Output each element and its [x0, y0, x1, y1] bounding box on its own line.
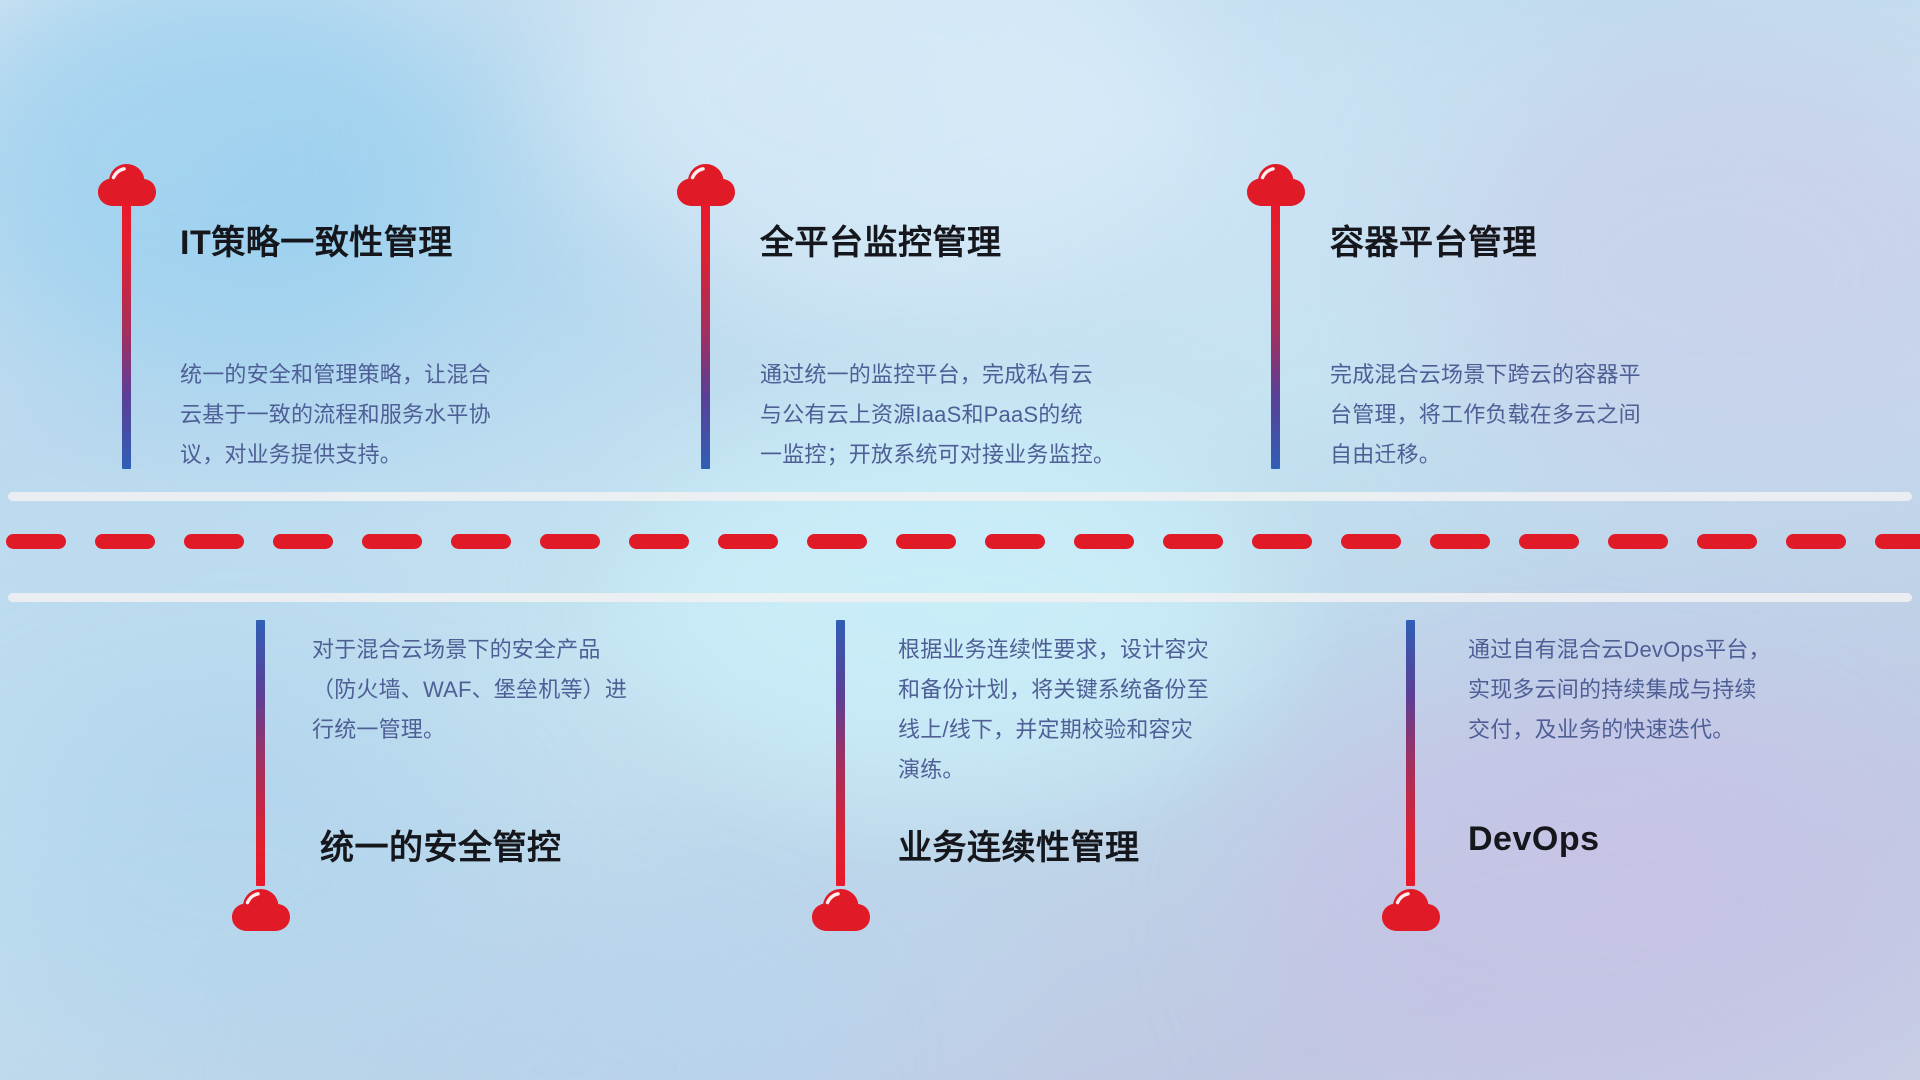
divider-dash — [1786, 534, 1846, 549]
divider-dash — [1875, 534, 1920, 549]
divider-dash — [184, 534, 244, 549]
divider-dash — [629, 534, 689, 549]
divider-dash — [540, 534, 600, 549]
divider-dash — [807, 534, 867, 549]
divider-dash — [1608, 534, 1668, 549]
timeline-stem — [701, 203, 710, 469]
divider-dash — [1074, 534, 1134, 549]
top-item-body: 完成混合云场景下跨云的容器平 台管理，将工作负载在多云之间 自由迁移。 — [1330, 355, 1780, 475]
divider-dash — [1697, 534, 1757, 549]
divider-rail-top — [8, 492, 1912, 501]
divider-dashed-line — [0, 533, 1920, 549]
timeline-stem — [836, 620, 845, 886]
divider-dash — [451, 534, 511, 549]
divider-dash — [985, 534, 1045, 549]
divider-dash — [95, 534, 155, 549]
bottom-item-body: 根据业务连续性要求，设计容灾 和备份计划，将关键系统备份至 线上/线下，并定期校… — [898, 630, 1348, 790]
background-glow — [0, 0, 460, 360]
top-item-heading: 容器平台管理 — [1330, 215, 1537, 264]
divider-dash — [6, 534, 66, 549]
bottom-item-heading: 业务连续性管理 — [898, 820, 1140, 869]
bottom-item-body: 通过自有混合云DevOps平台， 实现多云间的持续集成与持续 交付，及业务的快速… — [1468, 630, 1918, 750]
background-glow — [300, 940, 820, 1080]
background-glow — [0, 700, 480, 1060]
cloud-icon — [1245, 160, 1307, 207]
timeline-stem — [1406, 620, 1415, 886]
cloud-icon — [810, 885, 872, 932]
cloud-icon — [96, 160, 158, 207]
top-item-heading: IT策略一致性管理 — [180, 215, 453, 264]
bottom-item-heading: 统一的安全管控 — [320, 820, 562, 869]
cloud-icon — [230, 885, 292, 932]
background-glow — [1260, 720, 1880, 1080]
bottom-item-heading: DevOps — [1468, 820, 1600, 859]
bottom-item-body: 对于混合云场景下的安全产品 （防火墙、WAF、堡垒机等）进 行统一管理。 — [312, 630, 752, 750]
timeline-stem — [256, 620, 265, 886]
divider-dash — [273, 534, 333, 549]
divider-dash — [896, 534, 956, 549]
divider-dash — [1252, 534, 1312, 549]
divider-dash — [1430, 534, 1490, 549]
infographic-canvas: IT策略一致性管理 统一的安全和管理策略，让混合 云基于一致的流程和服务水平协 … — [0, 0, 1920, 1080]
timeline-stem — [122, 203, 131, 469]
top-item-body: 统一的安全和管理策略，让混合 云基于一致的流程和服务水平协 议，对业务提供支持。 — [180, 355, 610, 475]
cloud-icon — [675, 160, 737, 207]
cloud-icon — [1380, 885, 1442, 932]
top-item-body: 通过统一的监控平台，完成私有云 与公有云上资源IaaS和PaaS的统 一监控；开… — [760, 355, 1230, 475]
divider-dash — [1519, 534, 1579, 549]
timeline-stem — [1271, 203, 1280, 469]
divider-dash — [1163, 534, 1223, 549]
divider-dash — [718, 534, 778, 549]
center-divider — [0, 485, 1920, 605]
divider-dash — [362, 534, 422, 549]
top-item-heading: 全平台监控管理 — [760, 215, 1002, 264]
divider-rail-bottom — [8, 593, 1912, 602]
divider-dash — [1341, 534, 1401, 549]
